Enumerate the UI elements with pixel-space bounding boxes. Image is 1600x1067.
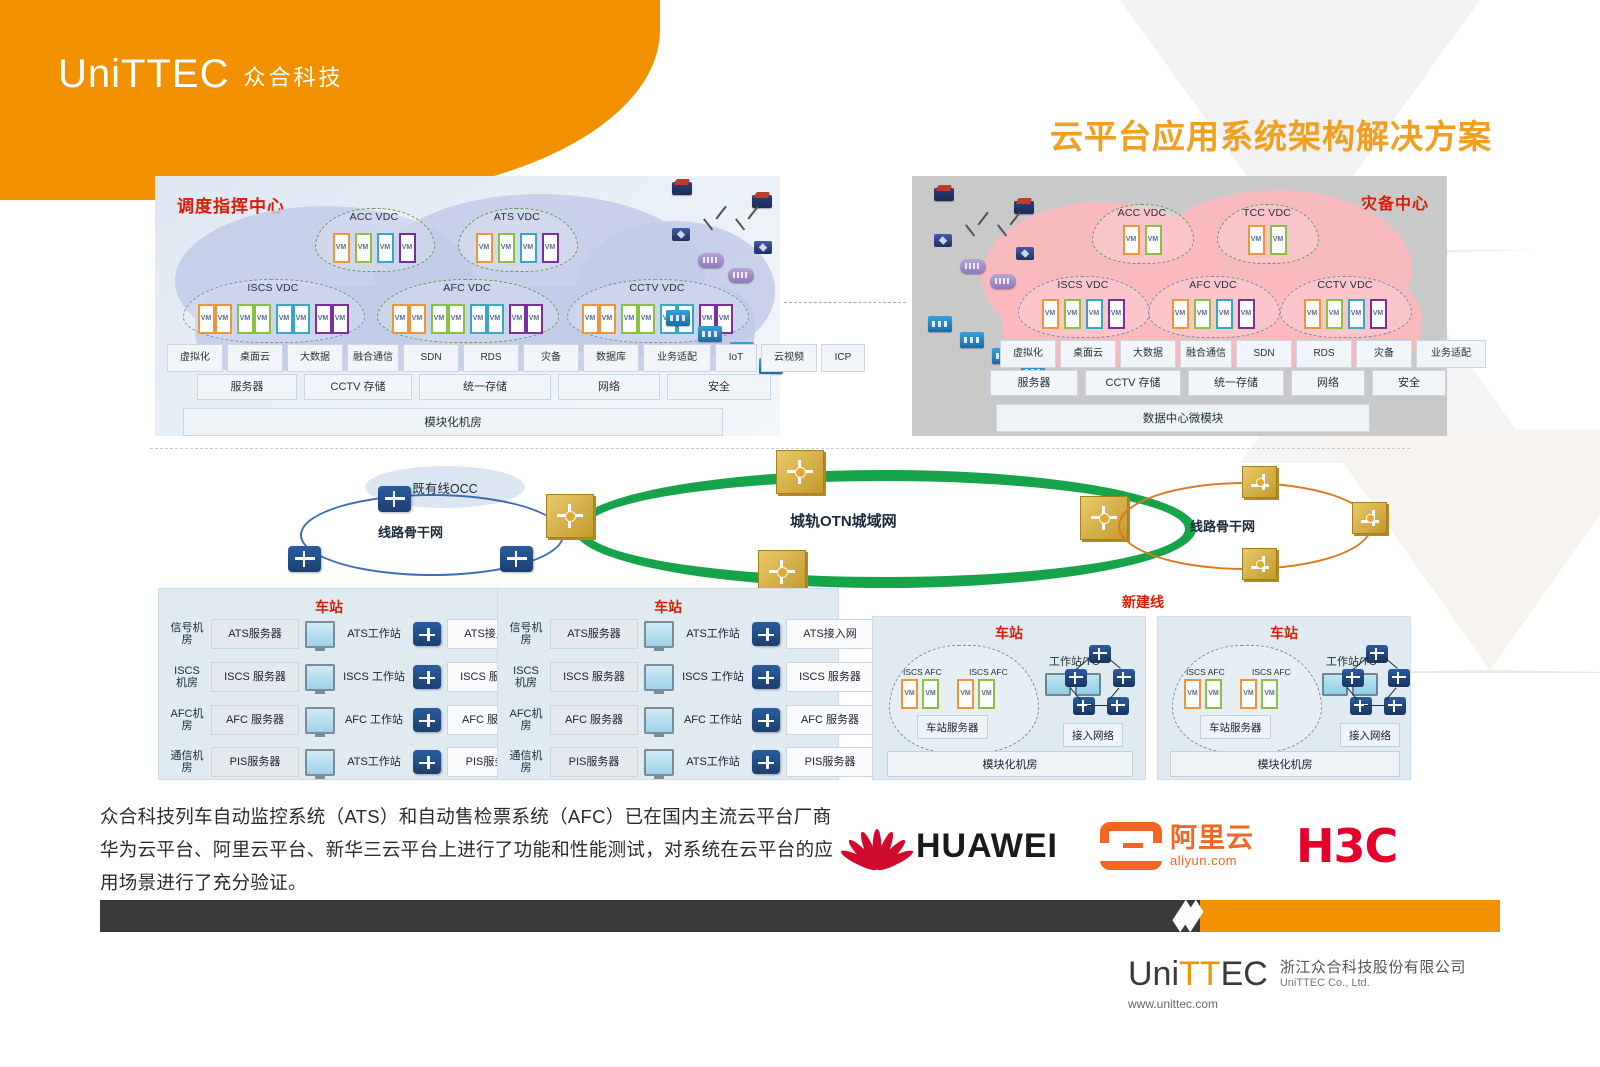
infra-chip: CCTV 存储 [304,374,412,400]
service-chip: SDN [403,344,459,372]
vm-node: VM [399,233,416,263]
vm-node: VM [526,304,543,334]
firewall-icon [672,182,692,195]
device-link [977,212,988,226]
vdc-afc: AFC VDC VMVM VMVM VMVM VMVM [377,279,557,341]
otn-switch-icon [546,494,594,538]
switch-node-icon [500,546,533,572]
vm-node: VM [1240,679,1257,709]
room-label: ISCS机房 [169,665,205,690]
vdc-ats: ATS VDC VM VM VM VM [458,208,576,270]
vm-node: VM [355,233,372,263]
router-icon [728,268,754,283]
aliyun-logo: 阿里云 aliyun.com [1100,822,1254,870]
vdc-title: CCTV VDC [567,282,747,294]
vm-row: VM VM [1092,225,1192,255]
device-link [735,218,745,230]
service-chip: 融合通信 [347,344,399,372]
partner-logos: HUAWEI 阿里云 aliyun.com H3C [850,810,1490,882]
brand-logo-text: UniTTEC [58,52,229,97]
vm-node: VM [520,233,537,263]
footer-company-en: UniTTEC Co., Ltd. [1280,977,1466,991]
vm-row: VM VM VM VM [1280,299,1410,329]
service-chip: 融合通信 [1180,340,1232,368]
access-net-box: AFC 服务器 [786,705,874,735]
switch-icon [1342,669,1364,687]
service-chip: 业务适配 [1416,340,1486,368]
network-device-cluster [660,180,780,250]
vm-node: VM [638,304,655,334]
vm-node: VM [922,679,939,709]
otn-core-label: 城轨OTN城域网 [790,510,897,531]
vm-row: VM VM VM VM [1184,679,1278,709]
vm-node: VM [1348,299,1365,329]
vm-node: VM [978,679,995,709]
station-row: 信号机房 ATS服务器 ATS工作站 ATS接入网 [169,619,535,649]
server-box: PIS服务器 [550,747,638,777]
vdc-cctv-dr: CCTV VDC VM VM VM VM [1280,276,1410,336]
service-chip: 数据库 [583,344,639,372]
workstation-monitor-icon [305,621,335,648]
access-net-box: ATS接入网 [786,619,874,649]
service-chip: SDN [1236,340,1292,368]
vdc-iscs-dr: ISCS VDC VM VM VM VM [1018,276,1148,336]
vm-node: VM [1123,225,1140,255]
otn-switch-icon [776,450,824,494]
vm-node: VM [1086,299,1103,329]
access-network-chip: 接入网络 [1063,723,1123,747]
switch-icon [1107,697,1129,715]
room-label: AFC机房 [508,708,544,733]
infra-chip: 服务器 [197,374,297,400]
vm-node: VM [237,304,254,334]
vm-node: VM [293,304,310,334]
footer-url[interactable]: www.unittec.com [1128,997,1218,1011]
workstation-label: ISCS 工作站 [341,671,407,683]
vm-row: VM VM VM VM [1018,299,1148,329]
infra-chip: 网络 [558,374,660,400]
device-link [997,224,1007,236]
server-box: AFC 服务器 [550,705,638,735]
vdc-title: ACC VDC [1092,207,1192,219]
switch-icon [1065,669,1087,687]
infra-chip: 统一存储 [1188,370,1284,396]
vm-node: VM [476,233,493,263]
workstation-monitor-icon [644,621,674,648]
vdc-iscs: ISCS VDC VMVM VMVM VMVM VMVM [183,279,363,341]
room-label: 通信机房 [169,750,205,775]
vm-row: VMVM VMVM VMVM VMVM [377,304,557,334]
router-diamond-icon [672,228,690,241]
vm-node: VM [332,304,349,334]
vm-node: VM [215,304,232,334]
h3c-logo: H3C [1296,819,1397,873]
switch-node-icon [288,546,321,572]
service-chip-row-dr: 虚拟化 桌面云 大数据 融合通信 SDN RDS 灾备 业务适配 [1000,340,1486,368]
infra-chip-row-dr: 服务器 CCTV 存储 统一存储 网络 安全 [990,370,1446,396]
vm-node: VM [1172,299,1189,329]
station-row: 信号机房 ATS服务器 ATS工作站 ATS接入网 [508,619,874,649]
vdc-tcc-dr: TCC VDC VM VM [1217,204,1317,262]
vm-row: VM VM [1217,225,1317,255]
vm-node: VM [470,304,487,334]
vm-node: VM [198,304,215,334]
vm-node: VM [333,233,350,263]
ring-link [1364,705,1386,706]
service-chip: 云视频 [761,344,817,372]
footer-diamond-icon [1170,900,1202,932]
vdc-title: ISCS VDC [183,282,363,294]
workstation-monitor-icon [644,664,674,691]
infra-chip: CCTV 存储 [1085,370,1181,396]
ring-link [1087,705,1109,706]
service-chip: RDS [463,344,519,372]
switch-icon [1388,669,1410,687]
station-title: 车站 [498,597,838,617]
switch-icon [1113,669,1135,687]
modular-datacenter-bar: 模块化机房 [887,751,1133,777]
vm-node: VM [509,304,526,334]
switch-icon [1366,645,1388,663]
dispatch-center-panel: 调度指挥中心 ACC VDC VM VM VM VM ATS VDC VM VM… [155,176,780,436]
vdc-title: AFC VDC [1148,279,1278,291]
vm-node: VM [1248,225,1265,255]
router-icon [990,274,1016,289]
service-chip: 大数据 [287,344,343,372]
aliyun-en-text: aliyun.com [1170,854,1254,867]
workstation-monitor-icon [644,749,674,776]
service-chip: ICP [821,344,865,372]
switch-icon [752,708,780,732]
vm-node: VM [498,233,515,263]
vm-node: VM [1064,299,1081,329]
station-title: 车站 [873,623,1145,643]
vm-node: VM [1238,299,1255,329]
vm-row: VM VM VM VM [458,233,576,263]
center-link-dashed [784,302,906,303]
server-box: ISCS 服务器 [211,662,299,692]
footer-logo-wordmark: UniTTEC [1128,955,1268,994]
workstation-monitor-icon [644,707,674,734]
description-paragraph: 众合科技列车自动监控系统（ATS）和自动售检票系统（AFC）已在国内主流云平台厂… [100,800,840,899]
new-line-title: 新建线 [1122,592,1164,612]
device-link [965,224,975,236]
footer-logo-tt: TT [1179,955,1221,993]
vdc-title: AFC VDC [377,282,557,294]
aliyun-cn-text: 阿里云 [1170,825,1254,852]
aliyun-bracket-icon [1100,822,1162,870]
vm-row: VM VM VM VM [1148,299,1278,329]
vm-node: VM [431,304,448,334]
new-line-section: 新建线 车站 ISCS AFC ISCS AFC VM VM VM VM 车站服… [872,588,1412,778]
vm-node: VM [542,233,559,263]
vm-node: VM [1205,679,1222,709]
station-row: AFC机房 AFC 服务器 AFC 工作站 AFC 服务器 [508,705,874,735]
network-topology-section: 既有线OCC 线路骨干网 城轨OTN城域网 线路骨干网 [150,448,1410,588]
service-chip: 虚拟化 [1000,340,1056,368]
workstation-label: ATS工作站 [341,628,407,640]
service-chip: 虚拟化 [167,344,223,372]
vm-node: VM [315,304,332,334]
vm-node: VM [582,304,599,334]
line-backbone-label-right: 线路骨干网 [1190,516,1255,535]
switch-icon [752,665,780,689]
workstation-label: ISCS 工作站 [680,671,746,683]
vm-node: VM [621,304,638,334]
vm-node: VM [276,304,293,334]
station-title: 车站 [159,597,499,617]
server-box: ATS服务器 [211,619,299,649]
switch-icon [928,316,952,332]
room-label: ISCS机房 [508,665,544,690]
workstation-label: ATS工作站 [680,756,746,768]
server-box: PIS服务器 [211,747,299,777]
vm-group-label: ISCS AFC [903,667,942,677]
switch-icon [960,332,984,348]
switch-icon [1384,697,1406,715]
access-net-box: ISCS 服务器 [786,662,874,692]
station-row: 通信机房 PIS服务器 ATS工作站 PIS服务器 [169,747,535,777]
station-row: AFC机房 AFC 服务器 AFC 工作站 AFC 服务器 [169,705,535,735]
vm-group-label: ISCS AFC [969,667,1008,677]
vm-node: VM [1261,679,1278,709]
vm-group-label: ISCS AFC [1186,667,1225,677]
modular-datacenter-bar: 模块化机房 [183,408,723,436]
service-chip: 灾备 [1356,340,1412,368]
otn-switch-icon [1352,502,1387,534]
footer-logo-ec: EC [1221,955,1268,993]
workstation-label: ATS工作站 [680,628,746,640]
modular-datacenter-bar: 模块化机房 [1170,751,1400,777]
slide-canvas: UniTTEC 众合科技 云平台应用系统架构解决方案 调度指挥中心 ACC VD… [0,0,1600,1067]
access-network-chip: 接入网络 [1340,723,1400,747]
infra-chip: 网络 [1291,370,1365,396]
switch-icon [413,708,441,732]
vm-node: VM [1194,299,1211,329]
server-box: AFC 服务器 [211,705,299,735]
vdc-acc: ACC VDC VM VM VM VM [315,208,433,270]
vm-node: VM [1370,299,1387,329]
vdc-title: ATS VDC [458,211,576,223]
station-panel-1: 车站 信号机房 ATS服务器 ATS工作站 ATS接入网 ISCS机房 ISCS… [158,588,500,780]
section-divider [150,448,1410,449]
switch-node-icon [378,486,411,512]
footer-company-cn: 浙江众合科技股份有限公司 [1280,959,1466,978]
vm-node: VM [901,679,918,709]
room-label: 信号机房 [169,622,205,647]
infra-chip: 统一存储 [419,374,551,400]
station-server-chip: 车站服务器 [917,715,988,739]
vm-node: VM [1270,225,1287,255]
brand-logo-cn: 众合科技 [243,60,343,97]
footer-logo: UniTTEC 浙江众合科技股份有限公司 UniTTEC Co., Ltd. [1128,955,1466,994]
workstation-label: AFC 工作站 [341,714,407,726]
vm-node: VM [1326,299,1343,329]
station-row: 通信机房 PIS服务器 ATS工作站 PIS服务器 [508,747,874,777]
header-swoosh [0,0,660,200]
room-label: 通信机房 [508,750,544,775]
service-chip-row: 虚拟化 桌面云 大数据 融合通信 SDN RDS 灾备 数据库 业务适配 IoT… [167,344,865,372]
vm-node: VM [1145,225,1162,255]
aliyun-wordmark: 阿里云 aliyun.com [1170,825,1254,867]
switch-icon [698,326,722,342]
service-chip: 桌面云 [1060,340,1116,368]
vm-node: VM [1042,299,1059,329]
vm-node: VM [448,304,465,334]
vdc-acc-dr: ACC VDC VM VM [1092,204,1192,262]
footer-bar-dark [100,900,1200,932]
service-chip: 业务适配 [643,344,711,372]
switch-icon [752,750,780,774]
workstation-label: AFC 工作站 [680,714,746,726]
router-icon [698,253,724,268]
station-title: 车站 [1158,623,1410,643]
firewall-icon [1014,201,1034,214]
server-box: ISCS 服务器 [550,662,638,692]
new-line-station-2: 车站 ISCS AFC ISCS AFC VM VM VM VM 车站服务器 工… [1157,616,1411,780]
vm-node: VM [1184,679,1201,709]
disaster-recovery-panel: 灾备中心 ACC VDC VM VM [912,176,1447,436]
router-icon [960,259,986,274]
vdc-title: CCTV VDC [1280,279,1410,291]
huawei-wordmark: HUAWEI [916,827,1058,866]
firewall-icon [934,188,954,201]
device-link [715,206,726,220]
footer-company: 浙江众合科技股份有限公司 UniTTEC Co., Ltd. [1280,959,1466,995]
switch-icon [413,622,441,646]
vm-node: VM [957,679,974,709]
room-label: AFC机房 [169,708,205,733]
footer-logo-uni: Uni [1128,955,1179,993]
vdc-title: ISCS VDC [1018,279,1148,291]
router-diamond-icon [754,241,772,254]
infra-chip: 安全 [1372,370,1446,396]
vdc-title: ACC VDC [315,211,433,223]
new-line-station-1: 车站 ISCS AFC ISCS AFC VM VM VM VM 车站服务器 工… [872,616,1146,780]
vm-node: VM [377,233,394,263]
workstation-label: ATS工作站 [341,756,407,768]
station-row: ISCS机房 ISCS 服务器 ISCS 工作站 ISCS 服务器 [508,662,874,692]
vm-row: VM VM VM VM [315,233,433,263]
huawei-logo: HUAWEI [850,823,1058,869]
device-link [703,218,713,230]
brand-logo: UniTTEC 众合科技 [58,52,343,97]
page-title: 云平台应用系统架构解决方案 [1050,110,1492,158]
switch-icon [666,310,690,326]
infra-chip: 服务器 [990,370,1078,396]
disaster-recovery-label: 灾备中心 [1361,190,1429,214]
vdc-title: TCC VDC [1217,207,1317,219]
workstation-monitor-icon [305,664,335,691]
workstation-monitor-icon [305,749,335,776]
datacenter-micro-module-bar: 数据中心微模块 [996,404,1370,432]
infra-chip: 安全 [667,374,771,400]
vm-node: VM [487,304,504,334]
router-diamond-icon [934,234,952,247]
vm-row: VM VM VM VM [901,679,995,709]
vm-row: VMVM VMVM VMVM VMVM [183,304,363,334]
service-chip: 大数据 [1120,340,1176,368]
server-box: ATS服务器 [550,619,638,649]
station-row: ISCS机房 ISCS 服务器 ISCS 工作站 ISCS 服务器 [169,662,535,692]
vm-node: VM [409,304,426,334]
service-chip: RDS [1296,340,1352,368]
room-label: 信号机房 [508,622,544,647]
vm-node: VM [599,304,616,334]
vm-node: VM [1108,299,1125,329]
switch-icon [413,665,441,689]
otn-switch-icon [1242,466,1277,498]
footer-bar-orange [1200,900,1500,932]
service-chip: 桌面云 [227,344,283,372]
station-server-chip: 车站服务器 [1200,715,1271,739]
vm-node: VM [254,304,271,334]
vm-node: VM [392,304,409,334]
service-chip: 灾备 [523,344,579,372]
firewall-icon [752,195,772,208]
vm-node: VM [1304,299,1321,329]
service-chip: IoT [715,344,757,372]
switch-icon [413,750,441,774]
access-net-box: PIS服务器 [786,747,874,777]
vm-node: VM [1216,299,1233,329]
huawei-flower-icon [850,823,904,869]
otn-switch-icon [1242,548,1277,580]
station-panel-2: 车站 信号机房 ATS服务器 ATS工作站 ATS接入网 ISCS机房 ISCS… [497,588,839,780]
vm-group-label: ISCS AFC [1252,667,1291,677]
network-device-cluster [922,186,1042,256]
vdc-afc-dr: AFC VDC VM VM VM VM [1148,276,1278,336]
workstation-monitor-icon [305,707,335,734]
switch-icon [1089,645,1111,663]
line-backbone-label-left: 线路骨干网 [378,522,443,541]
router-diamond-icon [1016,247,1034,260]
switch-icon [752,622,780,646]
infra-chip-row: 服务器 CCTV 存储 统一存储 网络 安全 [197,374,771,400]
